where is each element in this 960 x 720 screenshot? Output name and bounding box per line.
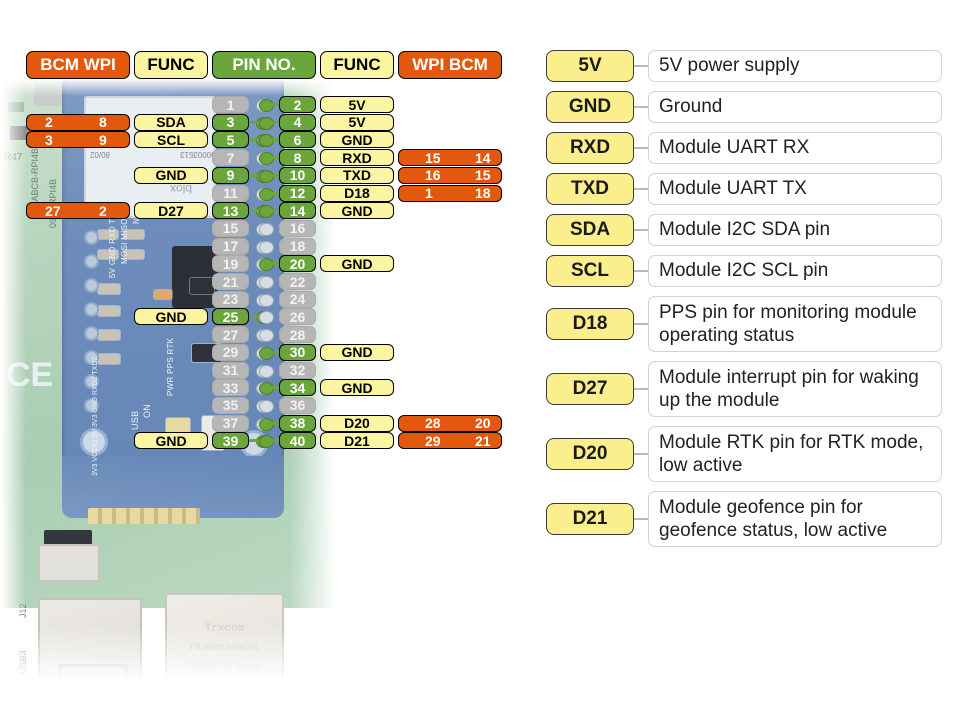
pin-number-31: 31 xyxy=(212,362,249,379)
pin-number-14: 14 xyxy=(279,202,316,219)
pin-number-7: 7 xyxy=(212,149,249,166)
pin-25-function: GND xyxy=(134,308,208,325)
legend-description-rxd: Module UART RX xyxy=(648,132,942,164)
legend-connector-line xyxy=(634,106,648,108)
pin-number-10: 10 xyxy=(279,167,316,184)
pin-number-23: 23 xyxy=(212,291,249,308)
wpi-value: 15 xyxy=(425,151,441,165)
wpi-value: 29 xyxy=(425,434,441,448)
legend-row: D20Module RTK pin for RTK mode, low acti… xyxy=(546,426,942,482)
pin-2-function: 5V xyxy=(320,96,394,113)
wpi-value: 9 xyxy=(99,133,107,147)
legend-description-d20: Module RTK pin for RTK mode, low active xyxy=(648,426,942,482)
legend-badge-txd: TXD xyxy=(546,173,634,205)
legend-connector-line xyxy=(634,147,648,149)
legend-badge-gnd: GND xyxy=(546,91,634,123)
pin-number-29: 29 xyxy=(212,344,249,361)
header-pin-pad xyxy=(259,400,274,413)
pin-number-40: 40 xyxy=(279,432,316,449)
bcm-value: 15 xyxy=(475,168,491,182)
legend-row: D21Module geofence pin for geofence stat… xyxy=(546,491,942,547)
pin-14-function: GND xyxy=(320,202,394,219)
pin-6-function: GND xyxy=(320,131,394,148)
bcm-value: 20 xyxy=(475,416,491,430)
pin-number-5: 5 xyxy=(212,131,249,148)
legend-row: SCLModule I2C SCL pin xyxy=(546,255,942,287)
pin-number-21: 21 xyxy=(212,273,249,290)
pin-38-function: D20 xyxy=(320,415,394,432)
pin-13-function: D27 xyxy=(134,202,208,219)
legend-description-gnd: Ground xyxy=(648,91,942,123)
pin-number-27: 27 xyxy=(212,326,249,343)
pin-3-function: SDA xyxy=(134,114,208,131)
pin-34-function: GND xyxy=(320,379,394,396)
bcm-value: 3 xyxy=(45,133,53,147)
legend-badge-d20: D20 xyxy=(546,438,634,470)
legend-row: GNDGround xyxy=(546,91,942,123)
legend-row: D27Module interrupt pin for waking up th… xyxy=(546,361,942,417)
pin-10-function: TXD xyxy=(320,167,394,184)
pin-number-16: 16 xyxy=(279,220,316,237)
pin-number-22: 22 xyxy=(279,273,316,290)
pin-number-32: 32 xyxy=(279,362,316,379)
pin-9-function: GND xyxy=(134,167,208,184)
legend-row: RXDModule UART RX xyxy=(546,132,942,164)
pin-8-wpi-bcm: 1514 xyxy=(398,149,502,166)
bcm-value: 18 xyxy=(475,186,491,200)
legend-connector-line xyxy=(634,453,648,455)
legend-badge-sda: SDA xyxy=(546,214,634,246)
pin-3-bcm-wpi: 28 xyxy=(26,114,130,131)
pin-number-30: 30 xyxy=(279,344,316,361)
pin-number-9: 9 xyxy=(212,167,249,184)
bcm-value: 14 xyxy=(475,151,491,165)
legend-description-d18: PPS pin for monitoring module operating … xyxy=(648,296,942,352)
pin-38-wpi-bcm: 2820 xyxy=(398,415,502,432)
legend-row: SDAModule I2C SDA pin xyxy=(546,214,942,246)
pin-number-38: 38 xyxy=(279,415,316,432)
pin-4-function: 5V xyxy=(320,114,394,131)
pin-40-wpi-bcm: 2921 xyxy=(398,432,502,449)
legend-row: TXDModule UART TX xyxy=(546,173,942,205)
legend-description-d27: Module interrupt pin for waking up the m… xyxy=(648,361,942,417)
pin-30-function: GND xyxy=(320,344,394,361)
header-pin-pad xyxy=(259,365,274,378)
pin-number-3: 3 xyxy=(212,114,249,131)
header-pin-pad xyxy=(259,223,274,236)
pin-number-13: 13 xyxy=(212,202,249,219)
pin-number-28: 28 xyxy=(279,326,316,343)
legend-badge-d21: D21 xyxy=(546,503,634,535)
pin-number-2: 2 xyxy=(279,96,316,113)
pin-number-33: 33 xyxy=(212,379,249,396)
pin-20-function: GND xyxy=(320,255,394,272)
pin-10-wpi-bcm: 1615 xyxy=(398,167,502,184)
pin-number-35: 35 xyxy=(212,397,249,414)
legend-description-d21: Module geofence pin for geofence status,… xyxy=(648,491,942,547)
header-pin-pad xyxy=(259,294,274,307)
pin-12-wpi-bcm: 118 xyxy=(398,185,502,202)
pin-number-17: 17 xyxy=(212,238,249,255)
pin-number-24: 24 xyxy=(279,291,316,308)
pin-40-function: D21 xyxy=(320,432,394,449)
wpi-value: 28 xyxy=(425,416,441,430)
pin-13-bcm-wpi: 272 xyxy=(26,202,130,219)
legend-badge-d18: D18 xyxy=(546,308,634,340)
legend-connector-line xyxy=(634,388,648,390)
pin-number-4: 4 xyxy=(279,114,316,131)
bcm-value: 21 xyxy=(475,434,491,448)
legend-description-scl: Module I2C SCL pin xyxy=(648,255,942,287)
pin-5-function: SCL xyxy=(134,131,208,148)
legend-description-txd: Module UART TX xyxy=(648,173,942,205)
legend-row: 5V5V power supply xyxy=(546,50,942,82)
legend-description-5v: 5V power supply xyxy=(648,50,942,82)
pin-number-34: 34 xyxy=(279,379,316,396)
legend-connector-line xyxy=(634,229,648,231)
wpi-value: 8 xyxy=(99,115,107,129)
pin-12-function: D18 xyxy=(320,185,394,202)
pin-number-20: 20 xyxy=(279,255,316,272)
pin-number-39: 39 xyxy=(212,432,249,449)
pin-number-12: 12 xyxy=(279,185,316,202)
header-pin-pad xyxy=(259,311,274,324)
bcm-value: 2 xyxy=(45,115,53,129)
legend-connector-line xyxy=(634,270,648,272)
legend-badge-d27: D27 xyxy=(546,373,634,405)
pin-number-15: 15 xyxy=(212,220,249,237)
header-pin-pad xyxy=(259,276,274,289)
pin-number-8: 8 xyxy=(279,149,316,166)
header-pin-pad xyxy=(259,241,274,254)
legend-badge-scl: SCL xyxy=(546,255,634,287)
pin-number-37: 37 xyxy=(212,415,249,432)
pin-39-function: GND xyxy=(134,432,208,449)
wpi-value: 2 xyxy=(99,204,107,218)
pin-number-25: 25 xyxy=(212,308,249,325)
legend-badge-rxd: RXD xyxy=(546,132,634,164)
pin-number-6: 6 xyxy=(279,131,316,148)
legend-description-sda: Module I2C SDA pin xyxy=(648,214,942,246)
pin-number-36: 36 xyxy=(279,397,316,414)
wpi-value: 1 xyxy=(425,186,433,200)
pin-number-11: 11 xyxy=(212,185,249,202)
pin-number-1: 1 xyxy=(212,96,249,113)
legend-connector-line xyxy=(634,65,648,67)
header-pin-pad xyxy=(259,329,274,342)
legend-connector-line xyxy=(634,323,648,325)
legend-badge-5v: 5V xyxy=(546,50,634,82)
legend-connector-line xyxy=(634,188,648,190)
pin-number-26: 26 xyxy=(279,308,316,325)
bcm-value: 27 xyxy=(45,204,61,218)
pin-number-18: 18 xyxy=(279,238,316,255)
legend-connector-line xyxy=(634,518,648,520)
pinout-diagram: R47 D: 2ABCB-RPI4B 0953-RPI4B CE 0500003… xyxy=(0,0,960,720)
pin-5-bcm-wpi: 39 xyxy=(26,131,130,148)
pin-legend: 5V5V power supplyGNDGroundRXDModule UART… xyxy=(546,50,942,556)
pin-number-19: 19 xyxy=(212,255,249,272)
legend-row: D18PPS pin for monitoring module operati… xyxy=(546,296,942,352)
pin-8-function: RXD xyxy=(320,149,394,166)
wpi-value: 16 xyxy=(425,168,441,182)
